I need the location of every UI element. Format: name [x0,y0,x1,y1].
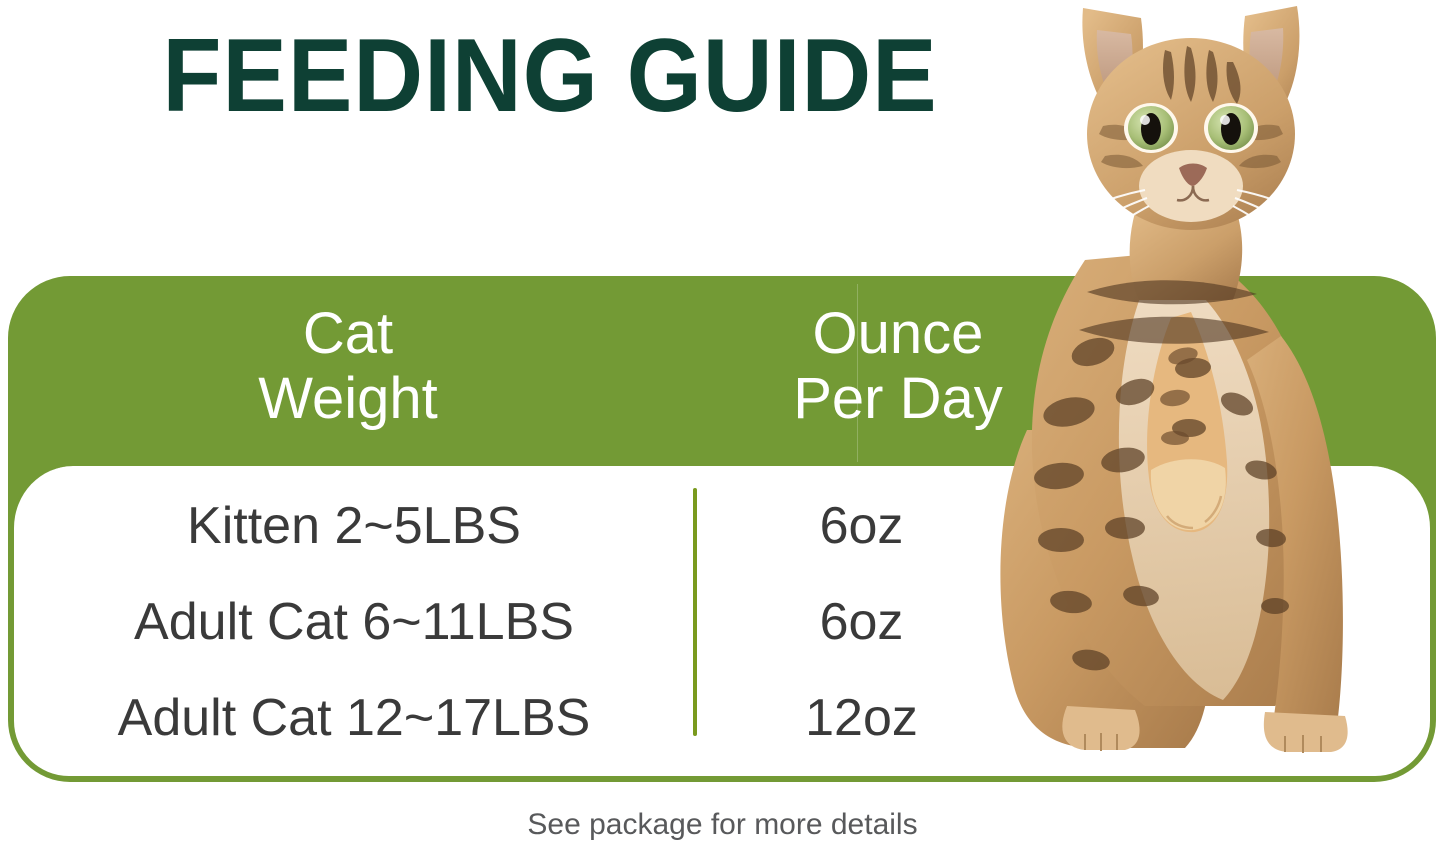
cell-cat-weight: Adult Cat 12~17LBS [14,692,694,744]
table-body: Kitten 2~5LBS 6oz Adult Cat 6~11LBS 6oz … [11,466,1433,779]
table-row: Adult Cat 12~17LBS 12oz [14,670,1436,766]
column-header-ounce-per-day-line2: Per Day [688,367,1108,432]
cell-cat-weight: Adult Cat 6~11LBS [14,596,694,648]
header-column-divider [857,284,858,462]
column-header-cat-weight: Cat Weight [8,276,688,466]
column-header-ounce-per-day-line1: Ounce [688,302,1108,367]
page-title: FEEDING GUIDE [39,24,1062,128]
cell-ounce-per-day: 12oz [694,692,1029,744]
table-header-row: Cat Weight Ounce Per Day [8,276,1436,466]
table-rows: Kitten 2~5LBS 6oz Adult Cat 6~11LBS 6oz … [14,478,1436,766]
cell-ounce-per-day: 6oz [694,500,1029,552]
table-row: Adult Cat 6~11LBS 6oz [14,574,1436,670]
footer-note: See package for more details [0,810,1445,840]
table-row: Kitten 2~5LBS 6oz [14,478,1436,574]
column-header-cat-weight-line2: Weight [8,367,688,432]
cell-cat-weight: Kitten 2~5LBS [14,500,694,552]
feeding-table-card: Cat Weight Ounce Per Day Kitten 2~5LBS 6… [8,276,1436,782]
column-header-ounce-per-day: Ounce Per Day [688,276,1108,466]
feeding-guide-poster: FEEDING GUIDE Cat Weight Ounce Per Day K… [0,0,1445,858]
column-header-cat-weight-line1: Cat [8,302,688,367]
cell-ounce-per-day: 6oz [694,596,1029,648]
